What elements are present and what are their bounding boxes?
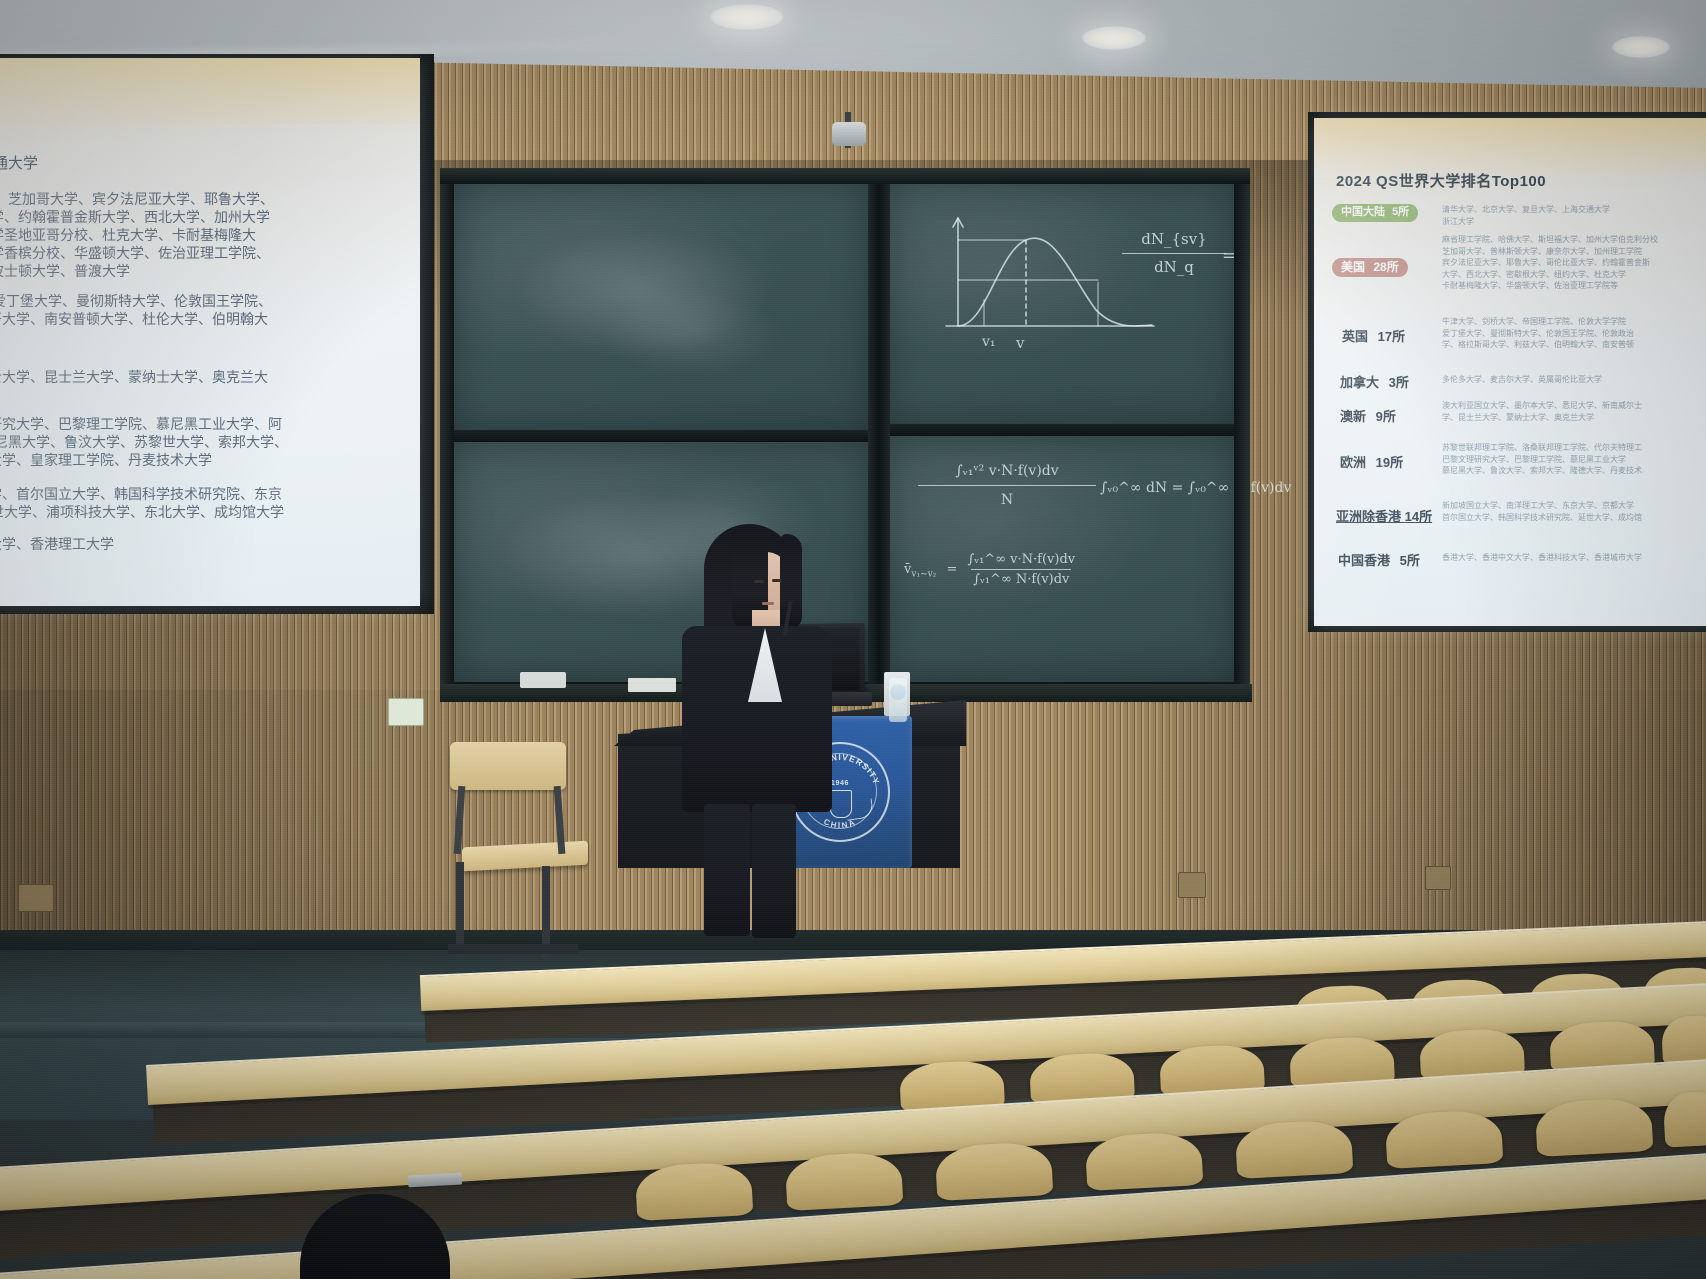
microphone-head (780, 588, 794, 602)
notice-card (388, 698, 424, 726)
blackboard-rail-right[interactable] (1234, 168, 1250, 688)
wall-outlet[interactable] (1425, 866, 1451, 890)
wooden-chair[interactable] (438, 742, 588, 960)
chalk-frac-den: dN_q (1114, 256, 1234, 279)
presenter-eye (772, 579, 782, 582)
velocity-distribution-sketch: v₁ v (886, 178, 1238, 428)
blackboard-panel-right-upper: v₁ v dN_{sv} dN_q = (886, 178, 1238, 428)
presenter (668, 518, 848, 938)
right-projection-screen: 2024 QS世界大学排名Top100 中国大陆 5所 清华大学、北京大学、复旦… (1314, 118, 1706, 626)
chair-seat (462, 841, 588, 872)
chalk-eraser[interactable] (520, 672, 566, 688)
presenter-blazer (682, 626, 832, 812)
presenter-hair-front (780, 534, 802, 630)
chalk-frac-den: N (912, 489, 1102, 511)
chalk-equation-upper: dN_{sv} dN_q (1114, 228, 1234, 278)
blackboard-panel-left-upper (452, 178, 872, 434)
presenter-trousers (704, 804, 750, 936)
left-projection-screen: 交通大学 学院、芝加哥大学、宾夕法尼亚大学、耶鲁大学、 服大学、约翰霍普金斯大学… (0, 58, 420, 606)
chalk-equation-frac: ∫ᵥ₁ᵛ² v·N·f(v)dv N (912, 460, 1102, 512)
chalk-axis-v1: v₁ (981, 334, 996, 350)
wall-outlet[interactable] (1178, 872, 1206, 898)
chalk-axis-v: v (1015, 334, 1025, 352)
blackboard-divider (450, 430, 874, 442)
blackboard-top-rail (440, 168, 1250, 184)
presenter-eye (754, 580, 764, 583)
chair-frame-left (454, 786, 466, 854)
projector (832, 122, 866, 146)
water-bottle[interactable] (889, 678, 907, 722)
chalk-mean-num: ∫ᵥ₁^∞ v·N·f(v)dv (967, 552, 1075, 567)
blackboard-rail-left[interactable] (440, 168, 454, 688)
chalk-frac-num: ∫ᵥ₁ᵛ² v·N·f(v)dv (912, 460, 1102, 482)
chalk-mean-den: ∫ᵥ₁^∞ N·f(v)dv (967, 572, 1075, 587)
chair-foot-rail (448, 944, 578, 954)
chair-backrest (450, 742, 566, 790)
chalk-mean-sub: v₁~v₂ (911, 570, 936, 580)
blackboard-panel-right-lower: ∫ᵥ₁ᵛ² v·N·f(v)dv N ∫ᵥ₀^∞ dN = ∫ᵥ₀^∞ N·f(… (886, 436, 1238, 682)
blackboard-rail-mid[interactable] (868, 168, 890, 688)
chalk-mean-velocity: v̄v₁~v₂ = ∫ᵥ₁^∞ v·N·f(v)dv ∫ᵥ₁^∞ N·f(v)d… (904, 552, 1075, 587)
chalk-frac-num: dN_{sv} (1114, 228, 1234, 251)
lecture-hall-photo: 交通大学 学院、芝加哥大学、宾夕法尼亚大学、耶鲁大学、 服大学、约翰霍普金斯大学… (0, 0, 1706, 1279)
chalk-integral-identity: ∫ᵥ₀^∞ dN = ∫ᵥ₀^∞ N·f(v)dv (1100, 480, 1291, 496)
blackboard-divider (884, 424, 1240, 436)
presenter-mouth (762, 602, 774, 605)
presenter-trousers (752, 804, 796, 938)
wall-outlet[interactable] (18, 884, 54, 912)
